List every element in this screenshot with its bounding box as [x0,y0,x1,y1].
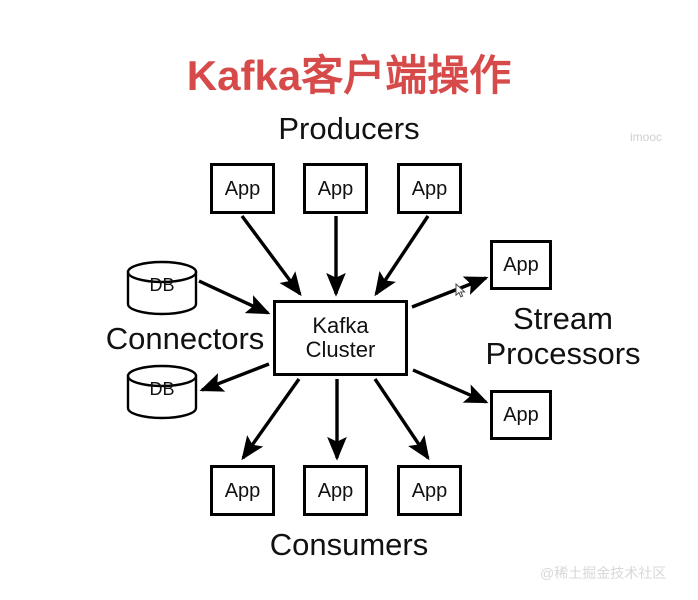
label-stream-line2: Processors [438,337,688,372]
consumer-app-box-1[interactable]: App [210,465,275,516]
connector-db-top-label: DB [128,276,196,296]
producer-app-box-1[interactable]: App [210,163,275,214]
stream-processor-app-box-1[interactable]: App [490,240,552,290]
arrow-producer3-to-cluster [376,216,428,294]
arrow-cluster-to-consumer1 [243,379,299,458]
connector-db-bottom[interactable]: DB [128,366,196,418]
consumer-app-box-3[interactable]: App [397,465,462,516]
page-title: Kafka客户端操作 [0,54,698,98]
arrow-db-top-to-cluster [199,281,268,313]
arrow-cluster-to-consumer3 [375,379,428,458]
watermark-juejin: @稀土掘金技术社区 [540,563,666,583]
producer-app-box-2[interactable]: App [303,163,368,214]
arrow-producer1-to-cluster [242,216,300,294]
kafka-cluster-line2: Cluster [306,338,376,362]
watermark-imooc: imooc [630,130,662,144]
label-producers: Producers [0,112,698,147]
kafka-cluster-box[interactable]: Kafka Cluster [273,300,408,376]
connector-db-bottom-label: DB [128,380,196,400]
kafka-cluster-line1: Kafka [312,314,368,338]
arrow-cluster-to-db-bottom [202,364,269,390]
connector-db-top[interactable]: DB [128,262,196,314]
arrow-cluster-to-stream-app2 [413,370,486,402]
producer-app-box-3[interactable]: App [397,163,462,214]
stream-processor-app-box-2[interactable]: App [490,390,552,440]
consumer-app-box-2[interactable]: App [303,465,368,516]
label-stream-line1: Stream [513,301,613,336]
label-stream-processors: Stream Processors [438,302,688,371]
label-consumers: Consumers [0,528,698,563]
